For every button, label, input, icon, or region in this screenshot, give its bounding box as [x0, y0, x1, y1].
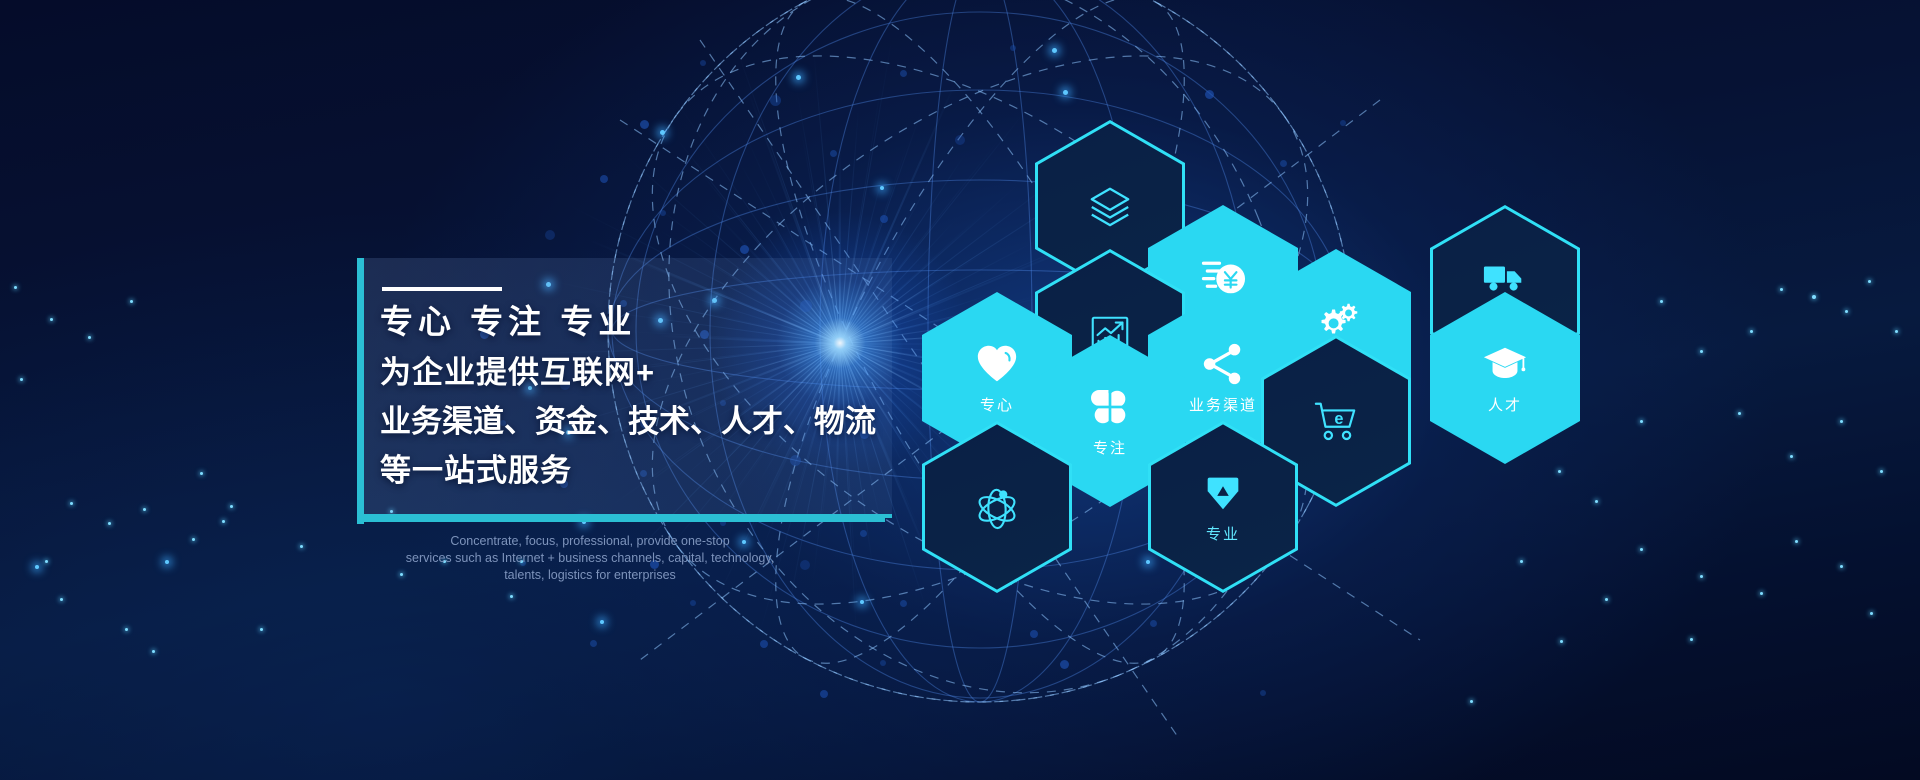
- hexagon-content: 专业: [1148, 421, 1298, 593]
- hexagon-label: 专心: [980, 394, 1014, 415]
- hexagon-label: 业务渠道: [1189, 394, 1257, 415]
- atom-icon: [974, 484, 1020, 530]
- hexagon-grid: 资金物流技术专心业务渠道人才专注e专业: [0, 0, 1920, 780]
- layers-icon: [1087, 183, 1133, 229]
- diamond-icon: [1200, 470, 1246, 516]
- heart-icon: [974, 341, 1020, 387]
- e-cart-icon: e: [1313, 398, 1359, 444]
- share-nodes-icon: [1200, 341, 1246, 387]
- hexagon-zhuanye[interactable]: 专业: [1148, 421, 1298, 593]
- hexagon-label: 专业: [1206, 523, 1240, 544]
- hexagon-label: 专注: [1093, 437, 1127, 458]
- hexagon-content: 人才: [1430, 292, 1580, 464]
- banner-stage: 专心 专注 专业 为企业提供互联网+ 业务渠道、资金、技术、人才、物流 等一站式…: [0, 0, 1920, 780]
- graduation-cap-icon: [1482, 341, 1528, 387]
- hexagon-content: [922, 421, 1072, 593]
- hexagon-label: 人才: [1488, 394, 1522, 415]
- clover-icon: [1087, 384, 1133, 430]
- hexagon-atom[interactable]: [922, 421, 1072, 593]
- svg-text:e: e: [1334, 410, 1343, 428]
- hexagon-rencai[interactable]: 人才: [1430, 292, 1580, 464]
